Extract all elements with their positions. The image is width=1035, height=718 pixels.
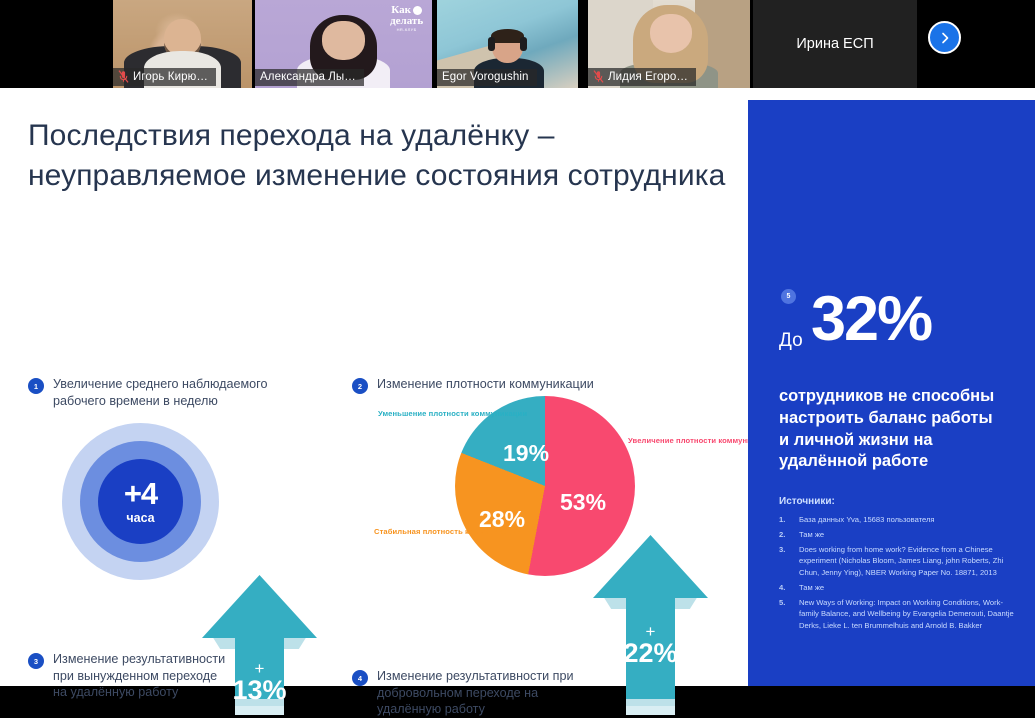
participant-name: Александра Лы…: [260, 71, 356, 83]
sources-list: 1.База данных Yva, 15683 пользователя2.Т…: [779, 514, 1014, 635]
badge-number-4: 4: [352, 670, 368, 686]
source-text: New Ways of Working: Impact on Working C…: [799, 597, 1014, 632]
source-text: База данных Yva, 15683 пользователя: [799, 514, 935, 526]
participant-tile-4[interactable]: Лидия Егоро…: [588, 0, 750, 88]
highlight-panel: 5 До 32% сотрудников не способны настрои…: [748, 100, 1035, 686]
source-number: 2.: [779, 529, 792, 541]
stat-block-3-header: 3 Изменение результативности при вынужде…: [28, 651, 228, 701]
arrow-label: + 22%: [593, 623, 708, 668]
arrow-head: [202, 575, 317, 638]
participant-tile-2[interactable]: Как делать HR-КЛУБ Александра Лы…: [255, 0, 432, 88]
source-row: 2.Там же: [779, 529, 1014, 541]
page-title: Последствия перехода на удалёнку – неупр…: [28, 116, 728, 196]
microphone-muted-icon: [118, 70, 129, 83]
participant-name: Лидия Егоро…: [608, 71, 688, 83]
person-face: [650, 14, 692, 53]
panel-description: сотрудников не способны настроить баланс…: [779, 386, 1004, 473]
source-number: 5.: [779, 597, 792, 632]
pie-label-decrease: 19%: [503, 440, 549, 467]
participant-tile-1[interactable]: Игорь Кирю…: [113, 0, 252, 88]
participant-tile-5[interactable]: Ирина ЕСП: [753, 0, 917, 88]
sources-heading: Источники:: [779, 496, 835, 507]
badge-number-3: 3: [28, 653, 44, 669]
participant-namebar: Александра Лы…: [255, 69, 364, 86]
badge-number-2: 2: [352, 378, 368, 394]
arrow-foot-shadow-2: [235, 706, 284, 715]
participant-name: Ирина ЕСП: [796, 36, 873, 52]
hr-club-logo: Как делать HR-КЛУБ: [390, 5, 423, 32]
panel-stat-value: 32%: [811, 288, 931, 351]
badge-number-1: 1: [28, 378, 44, 394]
participant-name: Egor Vorogushin: [442, 71, 529, 83]
logo-dot-icon: [413, 6, 422, 15]
badge-number-5: 5: [781, 289, 796, 304]
stat-block-1-label: Увеличение среднего наблюдаемого рабочег…: [53, 376, 318, 409]
participant-name: Игорь Кирю…: [133, 71, 208, 83]
stat-block-3-label: Изменение результативности при вынужденн…: [53, 651, 228, 701]
arrow-foot-shadow-2: [626, 706, 675, 715]
pie-legend-stable: Стабильная плотность коммуникации: [374, 526, 521, 538]
concentric-circle-stat: +4 часа: [62, 423, 219, 580]
stat-block-2-header: 2 Изменение плотности коммуникации: [352, 376, 682, 394]
source-row: 5.New Ways of Working: Impact on Working…: [779, 597, 1014, 632]
arrow-head: [593, 535, 708, 598]
source-text: Does working from home work? Evidence fr…: [799, 544, 1014, 579]
source-text: Там же: [799, 529, 824, 541]
participant-namebar: Egor Vorogushin: [437, 69, 537, 86]
headset-icon: [488, 37, 495, 51]
logo-line-3: HR-КЛУБ: [390, 28, 423, 32]
circle-stat-unit: часа: [126, 511, 154, 525]
arrow-value: 22%: [593, 640, 708, 668]
person-face: [322, 21, 364, 60]
chevron-right-icon: [938, 31, 952, 45]
pie-label-increase: 53%: [560, 489, 606, 516]
source-number: 3.: [779, 544, 792, 579]
participant-namebar: Лидия Егоро…: [588, 68, 696, 86]
stat-block-1-header: 1 Увеличение среднего наблюдаемого рабоч…: [28, 376, 318, 409]
source-row: 4.Там же: [779, 582, 1014, 594]
stat-block-4-label: Изменение результативности при доброволь…: [377, 668, 602, 718]
panel-prefix: До: [779, 330, 803, 352]
video-conference-strip: Игорь Кирю… Как делать HR-КЛУБ Александр…: [0, 0, 1035, 88]
person-silhouette: [164, 19, 200, 59]
circle-inner-ring: +4 часа: [98, 459, 183, 544]
source-number: 1.: [779, 514, 792, 526]
circle-stat-value: +4: [124, 478, 157, 509]
source-row: 1.База данных Yva, 15683 пользователя: [779, 514, 1014, 526]
pie-legend-decrease: Уменьшение плотности коммуникации: [378, 408, 527, 420]
stat-block-4-header: 4 Изменение результативности при доброво…: [352, 668, 602, 718]
headset-icon: [520, 37, 527, 51]
source-row: 3.Does working from home work? Evidence …: [779, 544, 1014, 579]
microphone-muted-icon: [593, 70, 604, 83]
logo-line-1: Как: [391, 4, 411, 16]
arrow-stat-22: + 22%: [593, 535, 708, 716]
source-number: 4.: [779, 582, 792, 594]
next-participants-button[interactable]: [928, 21, 961, 54]
participant-tile-3[interactable]: Egor Vorogushin: [437, 0, 578, 88]
source-text: Там же: [799, 582, 824, 594]
participant-namebar: Игорь Кирю…: [113, 68, 216, 86]
chart-title: Изменение плотности коммуникации: [377, 376, 594, 393]
